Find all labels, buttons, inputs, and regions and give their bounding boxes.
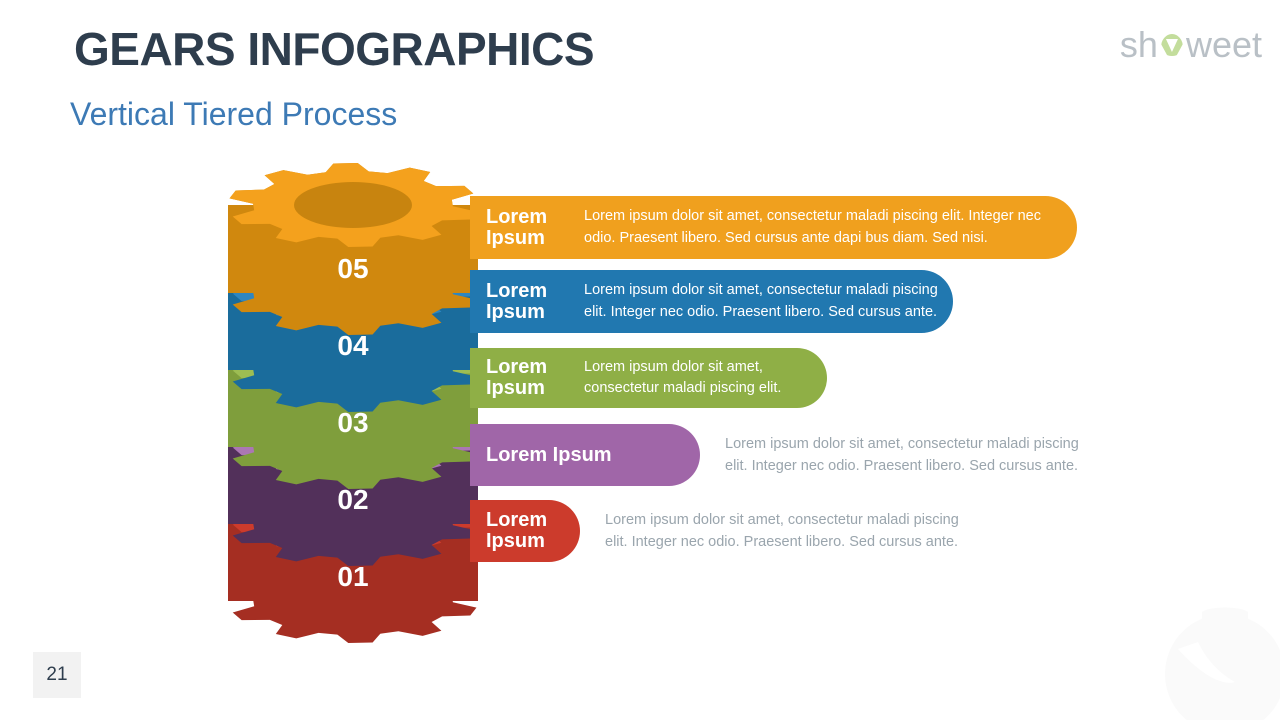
brand-logo: sh weet xyxy=(1120,24,1262,66)
tier-bar-04[interactable]: Lorem IpsumLorem ipsum dolor sit amet, c… xyxy=(470,270,953,333)
tier-body-05: Lorem ipsum dolor sit amet, consectetur … xyxy=(584,206,1054,248)
tier-body-04: Lorem ipsum dolor sit amet, consectetur … xyxy=(584,280,953,322)
tier-row-05[interactable]: Lorem IpsumLorem ipsum dolor sit amet, c… xyxy=(470,196,1270,259)
tier-heading-01: Lorem Ipsum xyxy=(486,510,570,552)
gear-number-05: 05 xyxy=(223,253,483,285)
gear-number-02: 02 xyxy=(223,484,483,516)
tier-heading-02: Lorem Ipsum xyxy=(486,445,612,466)
gear-tier-05 xyxy=(228,163,478,335)
tier-bar-02[interactable]: Lorem Ipsum xyxy=(470,424,700,486)
showeet-leaf-icon xyxy=(1159,30,1185,60)
logo-text-before: sh xyxy=(1120,24,1158,66)
page-subtitle: Vertical Tiered Process xyxy=(70,96,397,133)
tier-row-01[interactable]: Lorem IpsumLorem ipsum dolor sit amet, c… xyxy=(470,500,1270,562)
corner-watermark-icon xyxy=(1160,604,1280,720)
gear-number-03: 03 xyxy=(223,407,483,439)
tier-bar-03[interactable]: Lorem IpsumLorem ipsum dolor sit amet, c… xyxy=(470,348,827,408)
logo-text-after: weet xyxy=(1186,24,1262,66)
tier-heading-03: Lorem Ipsum xyxy=(486,357,570,399)
tier-body-01: Lorem ipsum dolor sit amet, consectetur … xyxy=(605,510,985,554)
tier-body-03: Lorem ipsum dolor sit amet, consectetur … xyxy=(584,357,827,399)
tier-bar-05[interactable]: Lorem IpsumLorem ipsum dolor sit amet, c… xyxy=(470,196,1077,259)
tier-heading-05: Lorem Ipsum xyxy=(486,207,570,249)
gear-number-04: 04 xyxy=(223,330,483,362)
tier-bar-01[interactable]: Lorem Ipsum xyxy=(470,500,580,562)
page-title: GEARS INFOGRAPHICS xyxy=(74,22,594,76)
tier-row-02[interactable]: Lorem IpsumLorem ipsum dolor sit amet, c… xyxy=(470,424,1270,486)
page-number-badge: 21 xyxy=(33,652,81,698)
gear-number-01: 01 xyxy=(223,561,483,593)
tier-heading-04: Lorem Ipsum xyxy=(486,281,570,323)
tier-row-04[interactable]: Lorem IpsumLorem ipsum dolor sit amet, c… xyxy=(470,270,1270,333)
gear-stack: 0504030201 xyxy=(223,150,483,680)
tier-body-02: Lorem ipsum dolor sit amet, consectetur … xyxy=(725,434,1105,478)
gear-center-hole xyxy=(294,182,412,228)
tier-row-03[interactable]: Lorem IpsumLorem ipsum dolor sit amet, c… xyxy=(470,348,1270,408)
